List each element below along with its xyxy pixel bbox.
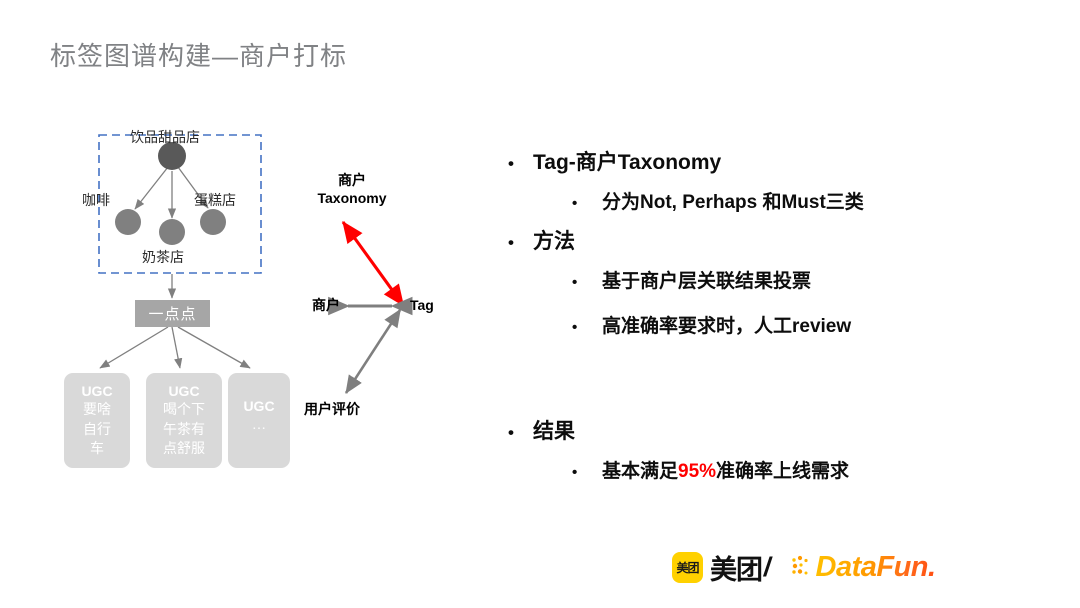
bullet-label: 基于商户层关联结果投票 — [602, 266, 811, 293]
ugc-body-text: 喝个下 午茶有 点舒服 — [163, 401, 205, 459]
ugc-body-text: 要啥 自行 车 — [83, 401, 111, 459]
bullet-list: • Tag-商户Taxonomy • 分为Not, Perhaps 和Must三… — [508, 146, 1048, 494]
bullet-marker: • — [572, 196, 602, 211]
node-label-coffee: 咖啡 — [82, 190, 110, 210]
accuracy-prefix: 基本满足 — [602, 461, 678, 482]
node-cake — [200, 209, 226, 235]
label-merchant: 商户 — [312, 297, 340, 315]
bullet-item-manual-review: • 高准确率要求时，人工review — [508, 311, 1048, 338]
bullet-label: Tag-商户Taxonomy — [533, 146, 721, 176]
label-merchant-taxonomy: 商户 Taxonomy — [302, 172, 402, 207]
edge-root-coffee — [135, 167, 168, 209]
ugc-tag-label: UGC — [168, 382, 199, 401]
entity-box-yidiandian: 一点点 — [135, 300, 210, 327]
logo-separator-slash: / — [762, 552, 774, 583]
edge-entity-ugc-1 — [100, 327, 168, 368]
meituan-wordmark: 美团 — [710, 548, 762, 587]
section-spacer — [508, 349, 1048, 415]
ugc-box-1: UGC 要啥 自行 车 — [64, 373, 130, 468]
node-label-cake: 蛋糕店 — [194, 190, 236, 210]
accuracy-suffix: 准确率上线需求 — [716, 461, 849, 482]
meituan-mark-icon: 美团 — [672, 552, 703, 583]
edge-entity-ugc-3 — [178, 327, 250, 368]
bullet-item-taxonomy: • Tag-商户Taxonomy — [508, 146, 1048, 176]
bullet-marker: • — [508, 234, 533, 251]
footer-logo-bar: 美团 美团 / DataFun. — [672, 546, 936, 588]
arrow-tag-taxonomy — [343, 222, 403, 305]
bullet-label-accuracy: 基本满足95%准确率上线需求 — [602, 456, 849, 483]
label-user-review: 用户评价 — [304, 401, 360, 419]
bullet-label: 结果 — [533, 415, 575, 445]
bullet-marker: • — [572, 275, 602, 290]
page-title: 标签图谱构建—商户打标 — [50, 36, 347, 73]
label-merchant-taxonomy-line2: Taxonomy — [302, 190, 402, 208]
bullet-marker: • — [508, 155, 533, 172]
datafun-dots-icon — [790, 554, 816, 580]
ugc-tag-label: UGC — [243, 397, 274, 416]
datafun-logo: DataFun. — [790, 551, 936, 584]
bullet-marker: • — [572, 465, 602, 480]
bullet-item-accuracy: • 基本满足95%准确率上线需求 — [508, 456, 1048, 483]
bullet-item-method: • 方法 — [508, 225, 1048, 255]
datafun-wordmark: DataFun. — [816, 551, 936, 584]
meituan-logo: 美团 美团 — [672, 548, 762, 587]
accuracy-highlight: 95% — [678, 461, 716, 482]
edge-entity-ugc-2 — [172, 327, 180, 368]
node-label-milktea: 奶茶店 — [142, 247, 184, 267]
bullet-label: 高准确率要求时，人工review — [602, 311, 851, 338]
arrow-tag-review — [346, 310, 400, 393]
ugc-tag-label: UGC — [81, 382, 112, 401]
bullet-item-three-classes: • 分为Not, Perhaps 和Must三类 — [508, 187, 1048, 214]
label-tag: Tag — [410, 297, 434, 315]
bullet-label: 分为Not, Perhaps 和Must三类 — [602, 187, 864, 214]
label-merchant-taxonomy-line1: 商户 — [302, 172, 402, 190]
bullet-item-voting: • 基于商户层关联结果投票 — [508, 266, 1048, 293]
bullet-item-result: • 结果 — [508, 415, 1048, 445]
node-label-root: 饮品甜品店 — [130, 127, 200, 147]
bullet-marker: • — [508, 424, 533, 441]
bullet-label: 方法 — [533, 225, 575, 255]
bullet-marker: • — [572, 320, 602, 335]
ugc-box-3: UGC … — [228, 373, 290, 468]
node-coffee — [115, 209, 141, 235]
ugc-body-text: … — [252, 416, 266, 435]
tag-relation-diagram: 商户 Taxonomy 商户 Tag 用户评价 — [290, 160, 470, 430]
node-milktea — [159, 219, 185, 245]
ugc-box-2: UGC 喝个下 午茶有 点舒服 — [146, 373, 222, 468]
